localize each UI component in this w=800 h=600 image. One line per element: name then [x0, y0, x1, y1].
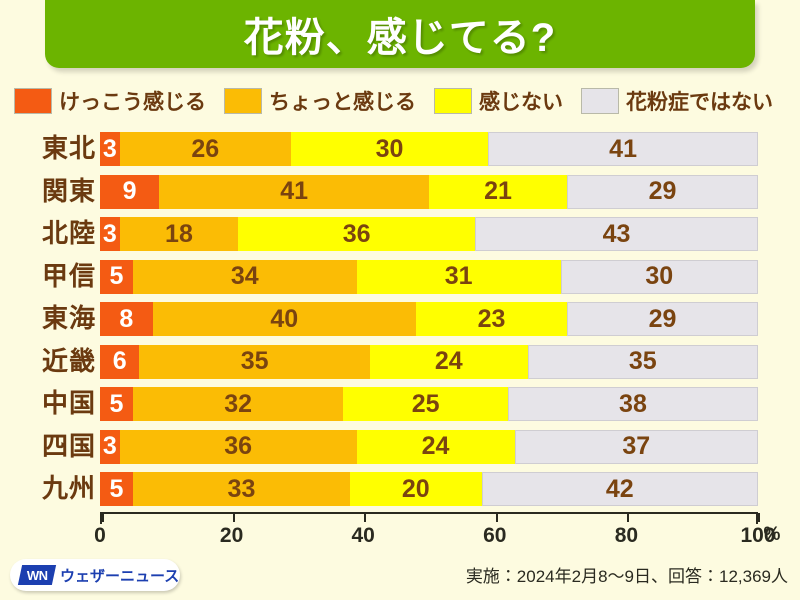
bar-segment-value: 3: [103, 137, 117, 162]
axis-tick: [233, 513, 235, 522]
axis-tick: [627, 513, 629, 522]
region-label-東北: 東北: [18, 128, 96, 169]
chart-row: 東海8402329: [0, 298, 800, 339]
bar-segment-けっこう感じる[interactable]: 5: [100, 260, 133, 294]
chart-row: 関東9412129: [0, 171, 800, 212]
bar-segment-感じない[interactable]: 23: [416, 302, 567, 336]
legend-item-2[interactable]: 感じない: [434, 86, 563, 116]
bar-segment-ちょっと感じる[interactable]: 35: [139, 345, 369, 379]
legend-item-label: 感じない: [479, 86, 563, 116]
legend-swatch-icon: [581, 88, 619, 114]
chart-legend: けっこう感じるちょっと感じる感じない花粉症ではない: [14, 84, 789, 118]
region-label-関東: 関東: [18, 171, 96, 212]
bar-track: 9412129: [100, 175, 758, 209]
bar-segment-ちょっと感じる[interactable]: 26: [120, 132, 291, 166]
bar-segment-花粉症ではない[interactable]: 43: [475, 217, 758, 251]
legend-item-label: けっこう感じる: [59, 86, 206, 116]
legend-item-1[interactable]: ちょっと感じる: [224, 86, 416, 116]
region-label-中国: 中国: [18, 383, 96, 424]
axis-tick-label: 20: [220, 524, 243, 548]
bar-segment-value: 40: [270, 307, 298, 332]
bar-segment-value: 41: [609, 137, 637, 162]
survey-source-note: 実施：2024年2月8〜9日、回答：12,369人: [466, 562, 788, 587]
bar-track: 3183643: [100, 217, 758, 251]
bar-segment-value: 36: [343, 222, 371, 247]
axis-tick-label: 80: [615, 524, 638, 548]
bar-segment-花粉症ではない[interactable]: 38: [508, 387, 758, 421]
bar-segment-value: 3: [103, 222, 117, 247]
bar-segment-ちょっと感じる[interactable]: 33: [133, 472, 350, 506]
bar-segment-花粉症ではない[interactable]: 29: [567, 302, 758, 336]
bar-segment-value: 21: [484, 179, 512, 204]
axis-tick: [758, 513, 760, 522]
chart-row: 東北3263041: [0, 128, 800, 169]
bar-segment-value: 35: [241, 349, 269, 374]
bar-segment-ちょっと感じる[interactable]: 41: [159, 175, 429, 209]
bar-segment-value: 35: [629, 349, 657, 374]
bar-segment-value: 33: [228, 477, 256, 502]
bar-segment-value: 20: [402, 477, 430, 502]
legend-item-3[interactable]: 花粉症ではない: [581, 86, 773, 116]
bar-segment-value: 29: [649, 179, 677, 204]
bar-segment-value: 36: [224, 434, 252, 459]
title-banner: 花粉、感じてる?: [45, 0, 755, 68]
bar-segment-けっこう感じる[interactable]: 3: [100, 217, 120, 251]
bar-segment-ちょっと感じる[interactable]: 36: [120, 430, 357, 464]
chart-row: 近畿6352435: [0, 341, 800, 382]
legend-swatch-icon: [224, 88, 262, 114]
bar-segment-value: 24: [435, 349, 463, 374]
axis-tick-label: 60: [483, 524, 506, 548]
axis-tick-label: 40: [352, 524, 375, 548]
bar-segment-value: 26: [191, 137, 219, 162]
bar-segment-けっこう感じる[interactable]: 5: [100, 472, 133, 506]
bar-segment-感じない[interactable]: 31: [357, 260, 561, 294]
bar-segment-花粉症ではない[interactable]: 42: [482, 472, 758, 506]
bar-segment-value: 37: [622, 434, 650, 459]
bar-segment-value: 32: [224, 392, 252, 417]
bar-segment-value: 25: [412, 392, 440, 417]
bar-segment-value: 30: [376, 137, 404, 162]
axis-tick-label: 100: [740, 524, 775, 548]
chart-row: 中国5322538: [0, 383, 800, 424]
region-label-北陸: 北陸: [18, 213, 96, 254]
bar-segment-花粉症ではない[interactable]: 29: [567, 175, 758, 209]
bar-segment-value: 3: [103, 434, 117, 459]
bar-segment-value: 42: [606, 477, 634, 502]
bar-segment-花粉症ではない[interactable]: 41: [488, 132, 758, 166]
bar-track: 5322538: [100, 387, 758, 421]
wn-logo-icon: WN: [18, 565, 56, 585]
bar-segment-ちょっと感じる[interactable]: 32: [133, 387, 344, 421]
legend-item-0[interactable]: けっこう感じる: [14, 86, 206, 116]
bar-segment-けっこう感じる[interactable]: 5: [100, 387, 133, 421]
bar-track: 3263041: [100, 132, 758, 166]
bar-segment-けっこう感じる[interactable]: 8: [100, 302, 153, 336]
bar-segment-value: 5: [109, 477, 123, 502]
bar-segment-value: 24: [422, 434, 450, 459]
bar-segment-value: 9: [123, 179, 137, 204]
bar-segment-value: 6: [113, 349, 127, 374]
weathernews-logo[interactable]: WN ウェザーニュース: [10, 559, 180, 591]
legend-swatch-icon: [434, 88, 472, 114]
bar-segment-感じない[interactable]: 30: [291, 132, 488, 166]
bar-track: 8402329: [100, 302, 758, 336]
bar-segment-value: 8: [119, 307, 133, 332]
brand-name-label: ウェザーニュース: [60, 565, 179, 586]
bar-segment-感じない[interactable]: 25: [343, 387, 508, 421]
bar-segment-けっこう感じる[interactable]: 3: [100, 430, 120, 464]
region-label-東海: 東海: [18, 298, 96, 339]
bar-segment-value: 5: [109, 392, 123, 417]
bar-segment-感じない[interactable]: 20: [350, 472, 482, 506]
region-label-甲信: 甲信: [18, 256, 96, 297]
page-title: 花粉、感じてる?: [244, 5, 556, 63]
chart-row: 北陸3183643: [0, 213, 800, 254]
stacked-bar-chart: 東北3263041関東9412129北陸3183643甲信5343130東海84…: [0, 128, 800, 518]
legend-item-label: 花粉症ではない: [626, 86, 773, 116]
region-label-九州: 九州: [18, 468, 96, 509]
bar-track: 5332042: [100, 472, 758, 506]
bar-segment-value: 38: [619, 392, 647, 417]
bar-segment-ちょっと感じる[interactable]: 40: [153, 302, 416, 336]
bar-segment-value: 34: [231, 264, 259, 289]
axis-tick-label: 0: [94, 524, 106, 548]
bar-track: 5343130: [100, 260, 758, 294]
bar-segment-花粉症ではない[interactable]: 35: [528, 345, 758, 379]
bar-segment-花粉症ではない[interactable]: 37: [515, 430, 758, 464]
bar-segment-感じない[interactable]: 21: [429, 175, 567, 209]
bar-segment-ちょっと感じる[interactable]: 18: [120, 217, 238, 251]
axis-tick: [364, 513, 366, 522]
axis-tick: [496, 513, 498, 522]
bar-segment-value: 43: [603, 222, 631, 247]
bar-segment-value: 23: [478, 307, 506, 332]
chart-row: 甲信5343130: [0, 256, 800, 297]
region-label-四国: 四国: [18, 426, 96, 467]
chart-row: 九州5332042: [0, 468, 800, 509]
chart-row: 四国3362437: [0, 426, 800, 467]
bar-track: 3362437: [100, 430, 758, 464]
bar-segment-value: 31: [445, 264, 473, 289]
bar-segment-けっこう感じる[interactable]: 6: [100, 345, 139, 379]
wn-logo-text: WN: [27, 568, 48, 583]
bar-segment-けっこう感じる[interactable]: 9: [100, 175, 159, 209]
bar-segment-花粉症ではない[interactable]: 30: [561, 260, 758, 294]
bar-segment-value: 5: [109, 264, 123, 289]
bar-segment-ちょっと感じる[interactable]: 34: [133, 260, 357, 294]
bar-segment-value: 18: [165, 222, 193, 247]
bar-segment-感じない[interactable]: 24: [357, 430, 515, 464]
legend-swatch-icon: [14, 88, 52, 114]
bar-segment-value: 30: [645, 264, 673, 289]
bar-segment-value: 41: [280, 179, 308, 204]
bar-segment-感じない[interactable]: 24: [370, 345, 528, 379]
bar-track: 6352435: [100, 345, 758, 379]
bar-segment-感じない[interactable]: 36: [238, 217, 475, 251]
bar-segment-けっこう感じる[interactable]: 3: [100, 132, 120, 166]
bar-segment-value: 29: [649, 307, 677, 332]
region-label-近畿: 近畿: [18, 341, 96, 382]
x-axis: [100, 512, 758, 524]
legend-item-label: ちょっと感じる: [269, 86, 416, 116]
axis-tick: [102, 513, 104, 522]
